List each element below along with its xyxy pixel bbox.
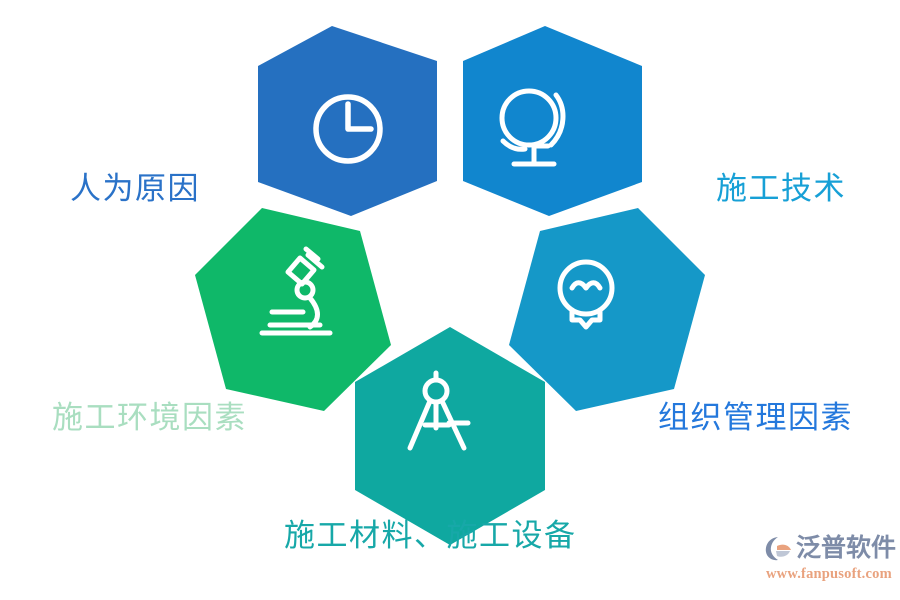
watermark-brand-row: 泛普软件 [764, 534, 896, 563]
label-human-factor: 人为原因 [70, 170, 200, 207]
hex-segment-human[interactable] [258, 26, 437, 216]
watermark-brand-name: 泛普软件 [796, 534, 896, 563]
hex-segment-technique[interactable] [463, 26, 642, 216]
hexagon-shape-material[interactable] [355, 327, 545, 545]
fanpu-logo-mark-icon [764, 534, 794, 563]
hexagon-cluster-diagram [0, 0, 900, 600]
watermark-url: www.fanpusoft.com [766, 566, 892, 583]
hex-segment-material[interactable] [355, 327, 545, 545]
watermark-logo: 泛普软件 www.fanpusoft.com [764, 534, 896, 588]
infographic-canvas: 人为原因 施工技术 施工环境因素 组织管理因素 施工材料、施工设备 泛普软件 w… [0, 0, 900, 600]
label-construction-technique: 施工技术 [716, 170, 846, 207]
hexagon-shape-technique[interactable] [463, 26, 642, 216]
label-construction-environment: 施工环境因素 [52, 399, 247, 436]
label-organization-management: 组织管理因素 [658, 399, 853, 436]
label-materials-equipment: 施工材料、施工设备 [284, 517, 577, 554]
